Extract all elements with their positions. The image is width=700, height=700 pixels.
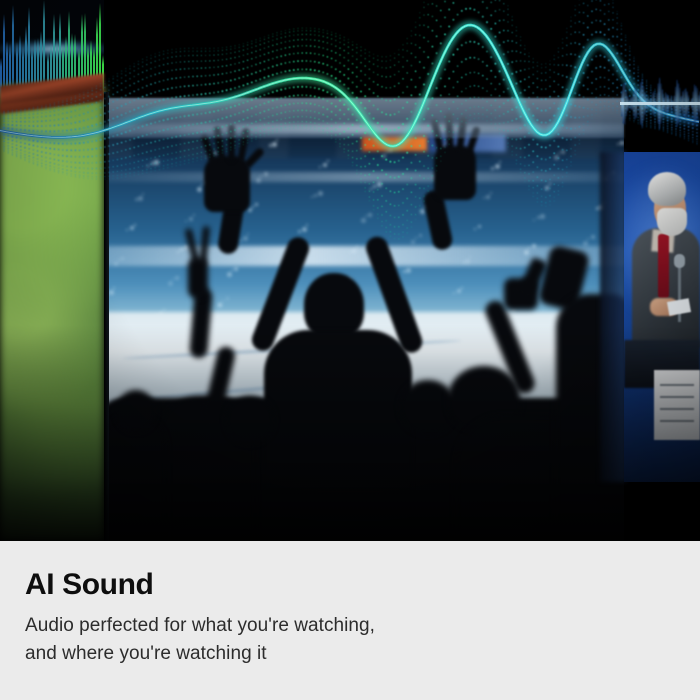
crowd-figure — [116, 390, 156, 432]
page-title: AI Sound — [25, 570, 153, 600]
caption-subtitle-line-1: Audio perfected for what you're watching… — [25, 612, 375, 640]
crowd-speck — [386, 151, 388, 153]
tv-bezel-left — [104, 92, 109, 541]
crowd-figure — [226, 396, 274, 444]
crowd-speck — [177, 251, 179, 253]
tv-panel — [104, 98, 624, 541]
anchor-tie — [658, 234, 669, 298]
anchor-hair — [648, 172, 686, 206]
crowd-figure — [264, 330, 412, 490]
arena-light-beam — [104, 124, 624, 134]
crowd-speck — [222, 300, 224, 302]
news-panel-side-edge — [600, 152, 626, 482]
crowd-speck — [533, 219, 535, 221]
screenshot-root: AI Sound Audio perfected for what you're… — [0, 0, 700, 700]
document-line — [660, 420, 694, 422]
linear-waveform-overlay — [620, 58, 700, 150]
anchor-beard — [657, 208, 687, 236]
document-line — [660, 384, 694, 386]
news-panel — [624, 152, 700, 482]
arena-ad-banner-orange — [362, 136, 428, 151]
crowd-figure — [104, 414, 166, 541]
document-line — [660, 396, 694, 398]
crowd-speck — [163, 309, 165, 311]
hero-image — [0, 0, 700, 541]
caption-subtitle: Audio perfected for what you're watching… — [25, 612, 375, 668]
crowd-speck — [327, 160, 329, 162]
caption-panel: AI Sound Audio perfected for what you're… — [0, 541, 700, 700]
crowd-speck — [147, 165, 149, 167]
nature-panel — [0, 86, 104, 541]
arena-light-beam — [104, 172, 624, 182]
crowd-speck — [415, 237, 417, 239]
crowd-speck — [193, 214, 195, 216]
caption-subtitle-line-2: and where you're watching it — [25, 640, 375, 668]
crowd-speck — [490, 192, 492, 194]
crowd-speck — [118, 259, 120, 261]
crowd-speck — [356, 246, 358, 248]
crowd-speck — [474, 228, 476, 230]
crowd-speck — [549, 183, 551, 185]
document-line — [660, 408, 694, 410]
crowd-speck — [134, 224, 136, 226]
crowd-speck — [252, 206, 254, 208]
crowd-speck — [311, 196, 313, 198]
desk-document — [654, 370, 700, 440]
microphone-head — [674, 254, 685, 268]
crowd-figure — [228, 124, 235, 162]
crowd-speck — [370, 188, 372, 190]
crowd-speck — [461, 287, 463, 289]
